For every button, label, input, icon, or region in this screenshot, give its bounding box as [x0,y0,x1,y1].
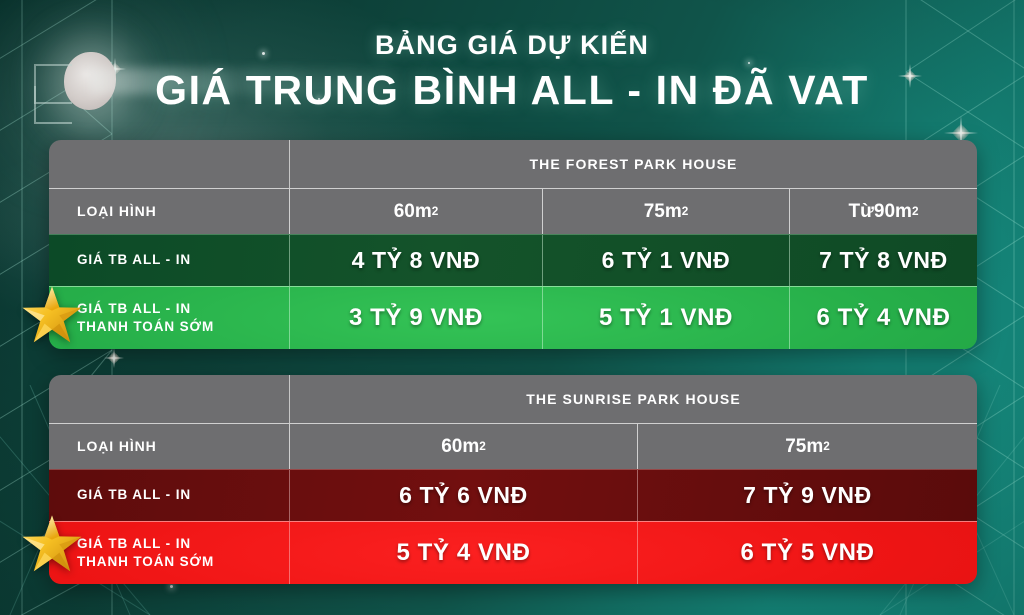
size-superscript: 2 [479,440,486,453]
header-block: BẢNG GIÁ DỰ KIẾN GIÁ TRUNG BÌNH ALL - IN… [0,30,1024,114]
row-label-line2: THANH TOÁN SỚM [77,553,214,571]
size-header-cell: 75m2 [543,189,790,234]
type-header-label: LOẠI HÌNH [49,189,290,234]
header-spacer-cell [49,375,290,423]
row-label: GIÁ TB ALL - IN THANH TOÁN SỚM [49,287,290,349]
size-unit: m [462,436,479,458]
price-cell: 6 TỶ 4 VNĐ [790,287,977,349]
page-subtitle: BẢNG GIÁ DỰ KIẾN [0,30,1024,61]
price-cell: 7 TỶ 9 VNĐ [638,470,977,521]
size-number: 60 [394,201,415,223]
price-cell: 6 TỶ 1 VNĐ [543,235,790,286]
price-cell: 6 TỶ 5 VNĐ [638,522,977,584]
size-superscript: 2 [682,205,689,218]
size-unit: m [415,201,432,223]
size-header-cell: Từ 90m2 [790,189,977,234]
row-label: GIÁ TB ALL - IN [49,470,290,521]
row-label-line1: GIÁ TB ALL - IN [77,535,214,553]
row-label-line2: THANH TOÁN SỚM [77,318,214,336]
table-row: GIÁ TB ALL - IN 4 TỶ 8 VNĐ 6 TỶ 1 VNĐ 7 … [49,234,977,286]
price-cell: 3 TỶ 9 VNĐ [290,287,543,349]
size-prefix: Từ [849,201,874,223]
size-header-cell: 60m2 [290,424,638,469]
size-number: 60 [441,436,462,458]
table-row-highlighted: GIÁ TB ALL - IN THANH TOÁN SỚM 3 TỶ 9 VN… [49,286,977,349]
size-superscript: 2 [823,440,830,453]
size-superscript: 2 [432,205,439,218]
price-cell: 4 TỶ 8 VNĐ [290,235,543,286]
size-unit: m [806,436,823,458]
size-number: 75 [644,201,665,223]
type-header-label: LOẠI HÌNH [49,424,290,469]
row-label-line1: GIÁ TB ALL - IN [77,300,214,318]
table-project-header-row: THE FOREST PARK HOUSE [49,140,977,188]
header-spacer-cell [49,140,290,188]
price-cell: 7 TỶ 8 VNĐ [790,235,977,286]
size-number: 75 [785,436,806,458]
page-title: GIÁ TRUNG BÌNH ALL - IN ĐÃ VAT [0,67,1024,114]
price-cell: 6 TỶ 6 VNĐ [290,470,638,521]
size-header-cell: 75m2 [638,424,977,469]
row-label: GIÁ TB ALL - IN THANH TOÁN SỚM [49,522,290,584]
price-cell: 5 TỶ 1 VNĐ [543,287,790,349]
table-row-highlighted: GIÁ TB ALL - IN THANH TOÁN SỚM 5 TỶ 4 VN… [49,521,977,584]
size-number: 90 [874,201,895,223]
project-title: THE FOREST PARK HOUSE [290,140,977,188]
table-size-header-row: LOẠI HÌNH 60m2 75m2 Từ 90m2 [49,188,977,234]
row-label: GIÁ TB ALL - IN [49,235,290,286]
pricing-poster: BẢNG GIÁ DỰ KIẾN GIÁ TRUNG BÌNH ALL - IN… [0,0,1024,615]
pricing-table-sunrise-park-house: THE SUNRISE PARK HOUSE LOẠI HÌNH 60m2 75… [49,375,977,584]
project-title: THE SUNRISE PARK HOUSE [290,375,977,423]
table-project-header-row: THE SUNRISE PARK HOUSE [49,375,977,423]
table-size-header-row: LOẠI HÌNH 60m2 75m2 [49,423,977,469]
size-unit: m [895,201,912,223]
size-superscript: 2 [912,205,919,218]
size-header-cell: 60m2 [290,189,543,234]
pricing-table-forest-park-house: THE FOREST PARK HOUSE LOẠI HÌNH 60m2 75m… [49,140,977,349]
price-cell: 5 TỶ 4 VNĐ [290,522,638,584]
size-unit: m [665,201,682,223]
table-row: GIÁ TB ALL - IN 6 TỶ 6 VNĐ 7 TỶ 9 VNĐ [49,469,977,521]
